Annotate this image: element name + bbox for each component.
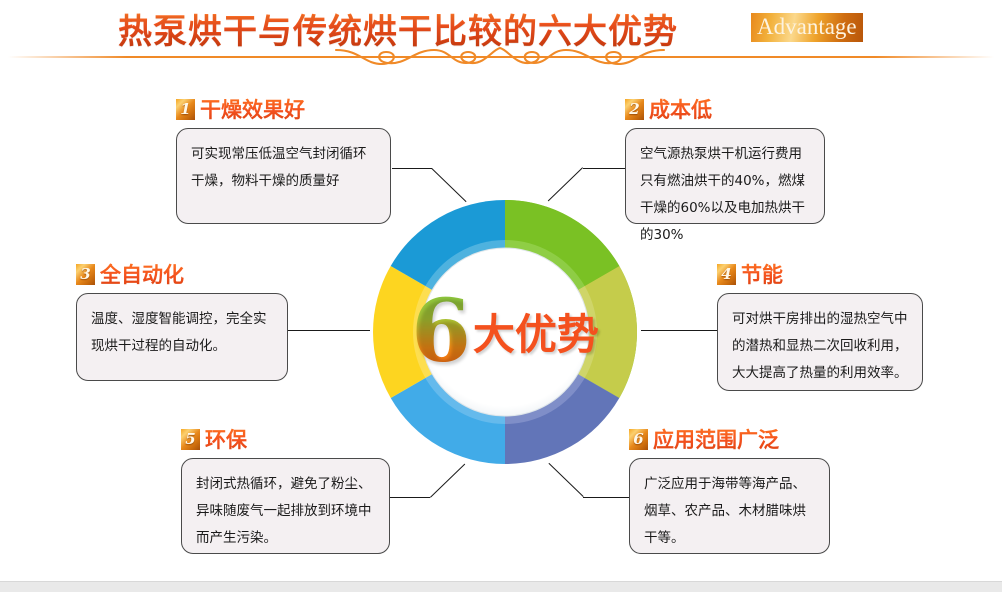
advantage-item-2-body: 空气源热泵烘干机运行费用只有燃油烘干的40%，燃煤干燥的60%以及电加热烘干的3… <box>625 128 825 224</box>
advantage-item-5-title: 环保 <box>205 424 247 454</box>
title-area: 热泵烘干与传统烘干比较的六大优势 Advantage <box>0 0 1002 70</box>
advantage-item-4: 4 节能 可对烘干房排出的湿热空气中的潜热和显热二次回收利用，大大提高了热量的利… <box>717 259 923 391</box>
bottom-band <box>0 581 1002 592</box>
advantage-item-2-title: 成本低 <box>649 94 712 124</box>
donut-chart-svg <box>365 192 645 472</box>
advantage-item-1-body: 可实现常压低温空气封闭循环干燥，物料干燥的质量好 <box>176 128 391 224</box>
number-badge-2: 2 <box>625 99 644 120</box>
advantage-item-4-title: 节能 <box>741 259 783 289</box>
connector-line-4 <box>641 330 717 331</box>
advantage-item-2-head: 2 成本低 <box>625 94 825 124</box>
advantage-item-1-title: 干燥效果好 <box>200 94 305 124</box>
connector-line-6 <box>583 497 629 498</box>
advantage-item-4-body: 可对烘干房排出的湿热空气中的潜热和显热二次回收利用，大大提高了热量的利用效率。 <box>717 293 923 391</box>
number-badge-4: 4 <box>717 264 736 285</box>
number-badge-3: 3 <box>76 264 95 285</box>
advantage-item-5: 5 环保 封闭式热循环，避免了粉尘、异味随废气一起排放到环境中而产生污染。 <box>181 424 390 554</box>
advantage-item-1: 1 干燥效果好 可实现常压低温空气封闭循环干燥，物料干燥的质量好 <box>176 94 391 224</box>
connector-line-5 <box>390 497 430 498</box>
number-badge-5: 5 <box>181 429 200 450</box>
advantage-item-3-title: 全自动化 <box>100 259 184 289</box>
advantage-item-2: 2 成本低 空气源热泵烘干机运行费用只有燃油烘干的40%，燃煤干燥的60%以及电… <box>625 94 825 224</box>
advantage-item-5-head: 5 环保 <box>181 424 390 454</box>
advantage-item-6-head: 6 应用范围广泛 <box>629 424 830 454</box>
advantage-item-6-title: 应用范围广泛 <box>653 424 779 454</box>
ornament-flourish <box>330 44 670 70</box>
advantage-item-1-head: 1 干燥效果好 <box>176 94 391 124</box>
advantage-item-5-body: 封闭式热循环，避免了粉尘、异味随废气一起排放到环境中而产生污染。 <box>181 458 390 554</box>
advantage-item-4-head: 4 节能 <box>717 259 923 289</box>
number-badge-1: 1 <box>176 99 195 120</box>
advantage-item-6-body: 广泛应用于海带等海产品、烟草、农产品、木材腊味烘干等。 <box>629 458 830 554</box>
advantage-item-3-head: 3 全自动化 <box>76 259 288 289</box>
advantage-badge: Advantage <box>751 13 863 42</box>
advantage-item-6: 6 应用范围广泛 广泛应用于海带等海产品、烟草、农产品、木材腊味烘干等。 <box>629 424 830 554</box>
connector-line-1 <box>392 168 432 169</box>
number-badge-6: 6 <box>629 429 648 450</box>
advantage-item-3-body: 温度、湿度智能调控，完全实现烘干过程的自动化。 <box>76 293 288 381</box>
advantage-item-3: 3 全自动化 温度、湿度智能调控，完全实现烘干过程的自动化。 <box>76 259 288 381</box>
infographic-canvas: 热泵烘干与传统烘干比较的六大优势 Advantage <box>0 0 1002 592</box>
connector-line-3 <box>288 330 370 331</box>
connector-line-2 <box>583 168 625 169</box>
donut-chart: 6 大优势 <box>365 192 645 472</box>
donut-hole <box>421 248 589 416</box>
